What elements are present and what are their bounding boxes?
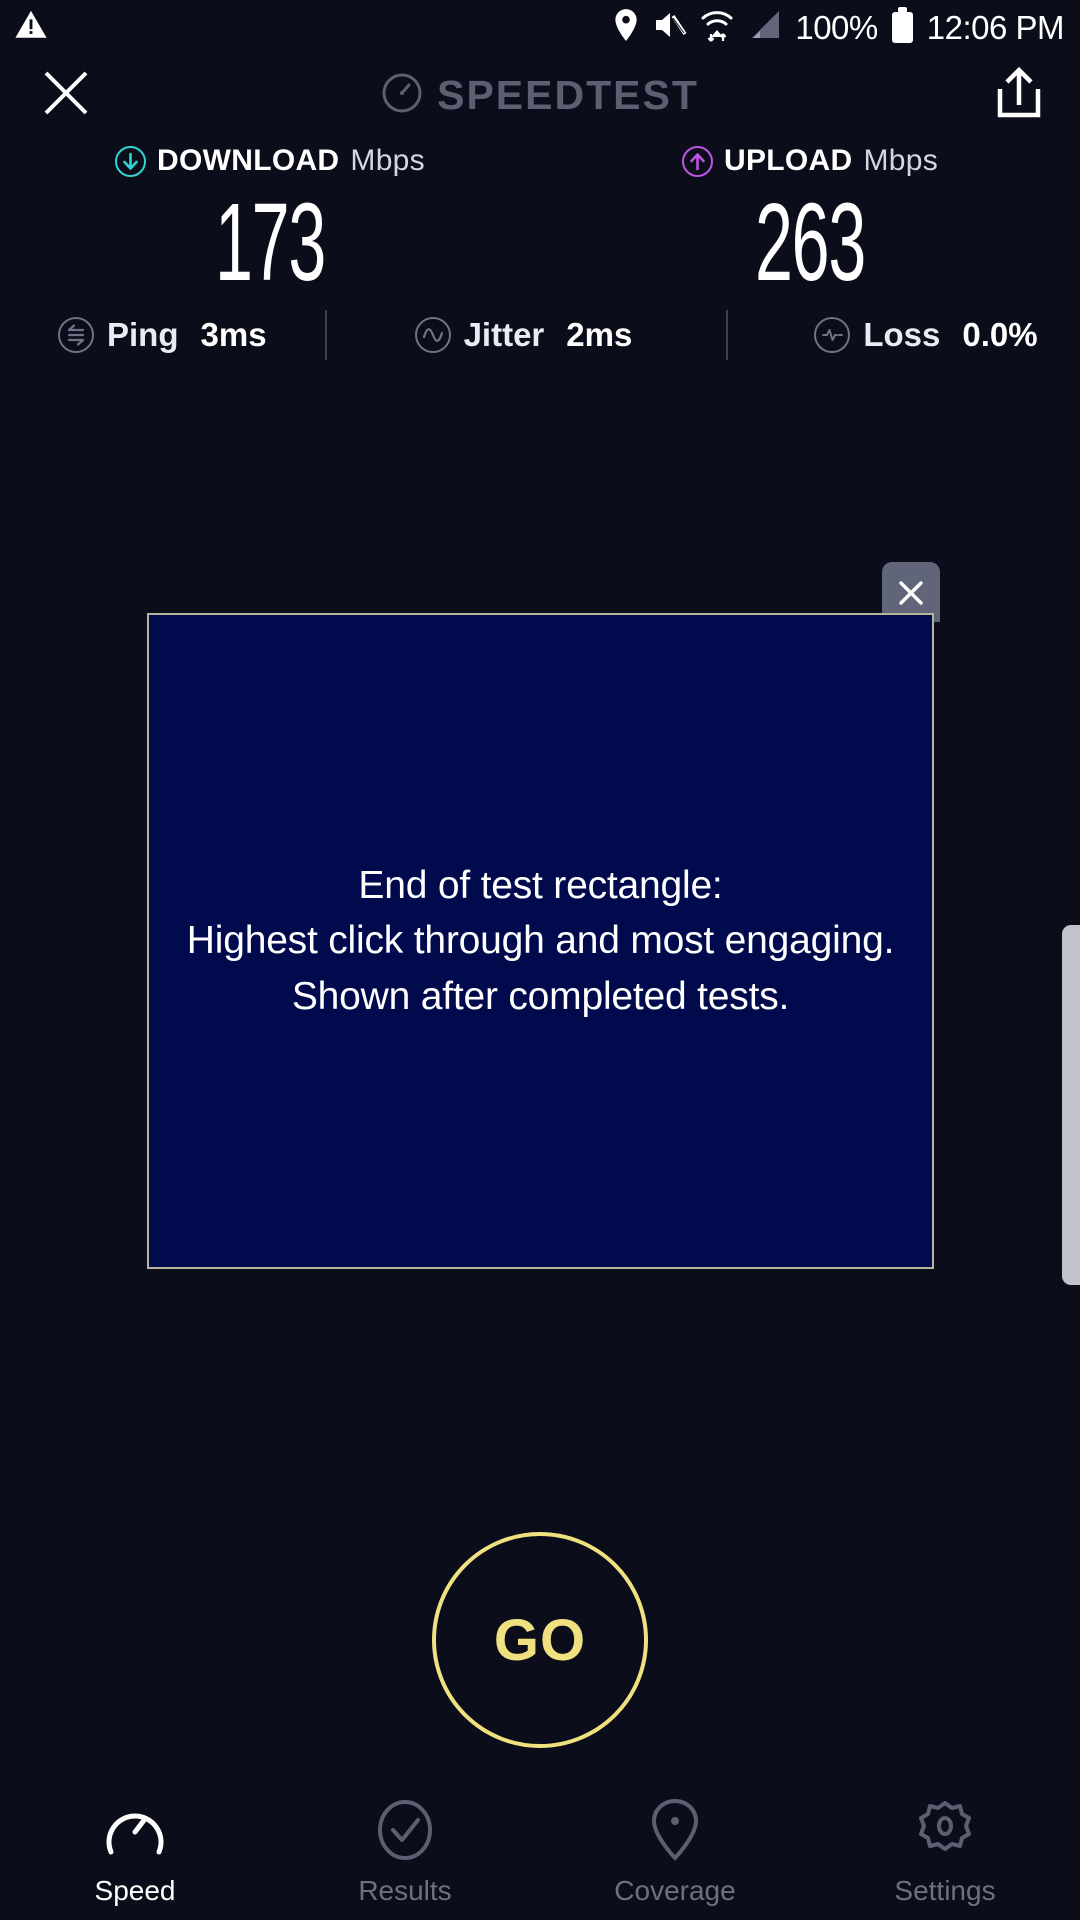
bottom-navigation: Speed Results Coverage (0, 1785, 1080, 1920)
download-arrow-icon (115, 146, 146, 177)
warning-triangle-icon (14, 8, 48, 47)
metric-ping-value: 3ms (201, 316, 267, 354)
metric-ping: Ping 3ms (58, 305, 267, 365)
loss-icon (814, 317, 850, 353)
metric-loss-value: 0.0% (962, 316, 1037, 354)
download-unit: Mbps (350, 144, 425, 178)
nav-label-settings: Settings (894, 1875, 995, 1907)
ad-line-3: Shown after completed tests. (187, 969, 894, 1024)
download-result: DOWNLOAD Mbps 173 (0, 140, 540, 298)
metric-divider-2 (726, 310, 728, 360)
nav-item-speed[interactable]: Speed (0, 1785, 270, 1920)
go-button-label: GO (494, 1607, 586, 1674)
ad-line-1: End of test rectangle: (187, 858, 894, 913)
status-bar: 100% 12:06 PM (0, 0, 1080, 55)
location-pin-icon (613, 8, 639, 47)
upload-unit: Mbps (863, 144, 938, 178)
check-circle-icon (374, 1799, 436, 1861)
brand-title: SPEEDTEST (437, 72, 699, 119)
go-button[interactable]: GO (432, 1532, 648, 1748)
speedtest-app-screen: 100% 12:06 PM SPEEDTEST (0, 0, 1080, 1920)
nav-label-speed: Speed (95, 1875, 176, 1907)
status-bar-right-group: 100% 12:06 PM (613, 0, 1064, 55)
upload-result: UPLOAD Mbps 263 (540, 140, 1080, 298)
metric-jitter-label: Jitter (464, 316, 545, 354)
nav-label-results: Results (358, 1875, 451, 1907)
metric-ping-label: Ping (107, 316, 179, 354)
clock-label: 12:06 PM (927, 9, 1064, 47)
volume-mute-icon (653, 9, 687, 46)
metric-jitter: Jitter 2ms (415, 305, 633, 365)
advertisement-banner[interactable]: End of test rectangle: Highest click thr… (147, 613, 934, 1269)
nav-item-settings[interactable]: Settings (810, 1785, 1080, 1920)
metric-jitter-value: 2ms (566, 316, 632, 354)
vertical-scrollbar[interactable] (1062, 925, 1080, 1285)
speedometer-icon (103, 1799, 167, 1861)
share-upload-icon[interactable] (990, 63, 1048, 123)
brand: SPEEDTEST (0, 55, 1080, 135)
nav-item-results[interactable]: Results (270, 1785, 540, 1920)
location-pin-icon (648, 1799, 702, 1861)
battery-full-icon (892, 12, 913, 43)
ad-line-2: Highest click through and most engaging. (187, 913, 894, 968)
speed-results: DOWNLOAD Mbps 173 UPLOAD Mbps 263 (0, 140, 1080, 298)
ad-text: End of test rectangle: Highest click thr… (187, 858, 894, 1024)
upload-label: UPLOAD (724, 144, 852, 178)
gear-icon (914, 1799, 976, 1861)
speedometer-icon (381, 72, 423, 119)
ping-icon (58, 317, 94, 353)
download-value: 173 (103, 188, 438, 298)
metric-loss: Loss 0.0% (814, 305, 1037, 365)
upload-arrow-icon (682, 146, 713, 177)
metric-loss-label: Loss (863, 316, 940, 354)
jitter-icon (415, 317, 451, 353)
cellular-signal-icon (747, 9, 781, 46)
app-header: SPEEDTEST (0, 55, 1080, 135)
battery-percent-label: 100% (795, 9, 877, 47)
metrics-row: Ping 3ms Jitter 2ms Loss (0, 305, 1080, 365)
upload-value: 263 (643, 188, 978, 298)
nav-label-coverage: Coverage (614, 1875, 735, 1907)
download-label: DOWNLOAD (157, 144, 339, 178)
wifi-icon (701, 8, 733, 47)
metric-divider-1 (325, 310, 327, 360)
nav-item-coverage[interactable]: Coverage (540, 1785, 810, 1920)
